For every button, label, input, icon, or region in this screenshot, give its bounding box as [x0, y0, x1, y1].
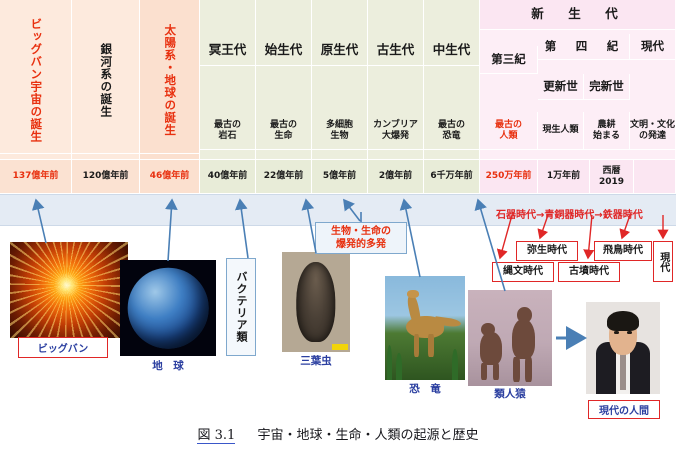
- dinosaur-label: 恐 竜: [385, 381, 465, 396]
- life-explosion-note: 生物・生命の爆発的多発: [315, 222, 407, 254]
- cenozoic-pleistocene: 更新世: [538, 74, 584, 100]
- figure-caption: 図 3.1 宇宙・地球・生命・人類の起源と歴史: [0, 424, 676, 443]
- bigbang-label: ビッグバン: [18, 337, 108, 358]
- period-modern: 現代: [653, 241, 673, 282]
- year-bigbang: 137億年前: [0, 160, 72, 194]
- year-tertiary: 250万年前: [480, 160, 538, 194]
- year-pleistocene: 1万年前: [538, 160, 590, 194]
- year-mesozoic: 6千万年前: [424, 160, 480, 194]
- era-mesozoic: 中生代: [424, 36, 480, 66]
- era-proterozoic: 原生代: [312, 36, 368, 66]
- event-oldest-life: 最古の生命: [256, 112, 312, 150]
- apes-label: 類人猿: [468, 386, 552, 401]
- figure-root: ビッグバン宇宙の誕生 銀河系の誕生 太陽系・地球の誕生 冥王代 始生代 原生代 …: [0, 0, 676, 454]
- cenozoic-holocene: 完新世: [584, 74, 630, 100]
- cell-galaxy-title: 銀河系の誕生: [72, 8, 140, 154]
- modern-human-image: [586, 302, 660, 394]
- year-present: [634, 160, 676, 194]
- year-galaxy: 120億年前: [72, 160, 140, 194]
- year-solar: 46億年前: [140, 160, 200, 194]
- trilobite-image: [282, 252, 350, 352]
- year-holocene: 西暦 2019: [590, 160, 634, 194]
- event-modern-human: 現生人類: [538, 112, 584, 150]
- period-kofun: 古墳時代: [558, 262, 620, 282]
- cenozoic-present: 現代: [630, 34, 676, 60]
- galaxy-title: 銀河系の誕生: [99, 43, 113, 118]
- year-hadean: 40億年前: [200, 160, 256, 194]
- bacteria-note: バクテリア類: [226, 258, 256, 356]
- period-asuka: 飛鳥時代: [594, 241, 652, 261]
- dinosaur-image: [385, 276, 465, 380]
- figure-caption-text: 宇宙・地球・生命・人類の起源と歴史: [258, 428, 479, 443]
- trilobite-label: 三葉虫: [282, 353, 350, 368]
- earth-label: 地 球: [120, 358, 216, 373]
- cell-solar-title: 太陽系・地球の誕生: [140, 8, 200, 154]
- era-hadean: 冥王代: [200, 36, 256, 66]
- bacteria-label: バクテリア類: [233, 271, 249, 343]
- cell-bigbang-title: ビッグバン宇宙の誕生: [0, 8, 72, 154]
- period-jomon: 縄文時代: [492, 262, 554, 282]
- bigbang-image: [10, 242, 128, 338]
- period-yayoi: 弥生時代: [516, 241, 578, 261]
- event-oldest-rock: 最古の岩石: [200, 112, 256, 150]
- earth-image: [120, 260, 216, 356]
- cenozoic-quaternary: 第 四 紀: [538, 34, 630, 60]
- bigbang-title: ビッグバン宇宙の誕生: [29, 18, 43, 143]
- timeline-table: ビッグバン宇宙の誕生 銀河系の誕生 太陽系・地球の誕生 冥王代 始生代 原生代 …: [0, 0, 676, 194]
- modern-human-label: 現代の人間: [588, 400, 660, 419]
- year-archean: 22億年前: [256, 160, 312, 194]
- year-paleozoic: 2億年前: [368, 160, 424, 194]
- event-civilization: 文明・文化の発達: [630, 112, 676, 150]
- figure-number: 図 3.1: [197, 428, 235, 444]
- cenozoic-header: 新 生 代: [480, 0, 676, 30]
- period-modern-label: 現代: [657, 252, 669, 272]
- event-oldest-dinosaur: 最古の恐竜: [424, 112, 480, 150]
- apes-image: [468, 290, 552, 386]
- age-chain-label: 石器時代→青銅器時代→鉄器時代: [496, 206, 643, 221]
- year-proterozoic: 5億年前: [312, 160, 368, 194]
- solar-title: 太陽系・地球の誕生: [163, 24, 177, 137]
- event-cambrian-explosion: カンブリア大爆発: [368, 112, 424, 150]
- event-oldest-human: 最古の人類: [480, 112, 538, 150]
- era-paleozoic: 古生代: [368, 36, 424, 66]
- era-archean: 始生代: [256, 36, 312, 66]
- event-multicellular: 多細胞生物: [312, 112, 368, 150]
- event-agriculture: 農耕始まる: [584, 112, 630, 150]
- cenozoic-tertiary: 第三紀: [480, 46, 538, 74]
